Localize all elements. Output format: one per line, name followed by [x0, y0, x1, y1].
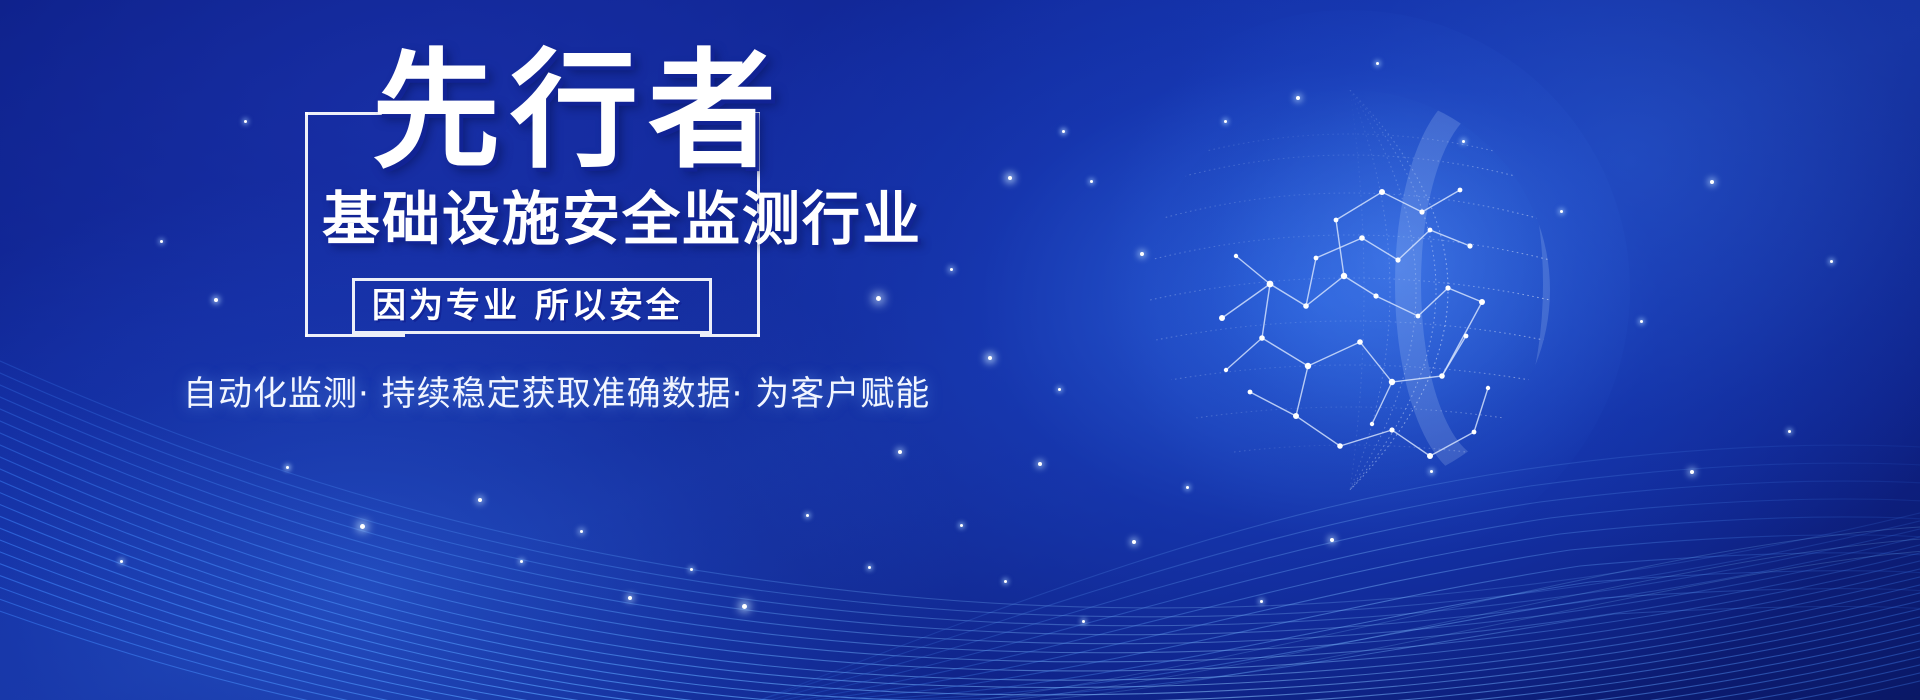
text-block: 先行者 基础设施安全监测行业 因为专业 所以安全 自动化监测· 持续稳定获取准确…	[0, 0, 1000, 700]
slogan-text: 因为专业 所以安全	[372, 286, 683, 326]
globe-svg	[1130, 70, 1570, 510]
wireframe-globe	[1130, 70, 1570, 510]
frame-left-segment	[305, 112, 308, 337]
page-title: 先行者	[372, 48, 786, 176]
banner-root: 先行者 基础设施安全监测行业 因为专业 所以安全 自动化监测· 持续稳定获取准确…	[0, 0, 1920, 700]
frame-bottom-right-segment	[700, 334, 760, 337]
top-right-glow	[1180, 0, 1920, 540]
frame-bottom-left-segment	[305, 334, 405, 337]
tagline-text: 自动化监测· 持续稳定获取准确数据· 为客户赋能	[183, 372, 930, 416]
globe-halo	[1070, 10, 1630, 570]
page-subtitle: 基础设施安全监测行业	[322, 190, 922, 248]
